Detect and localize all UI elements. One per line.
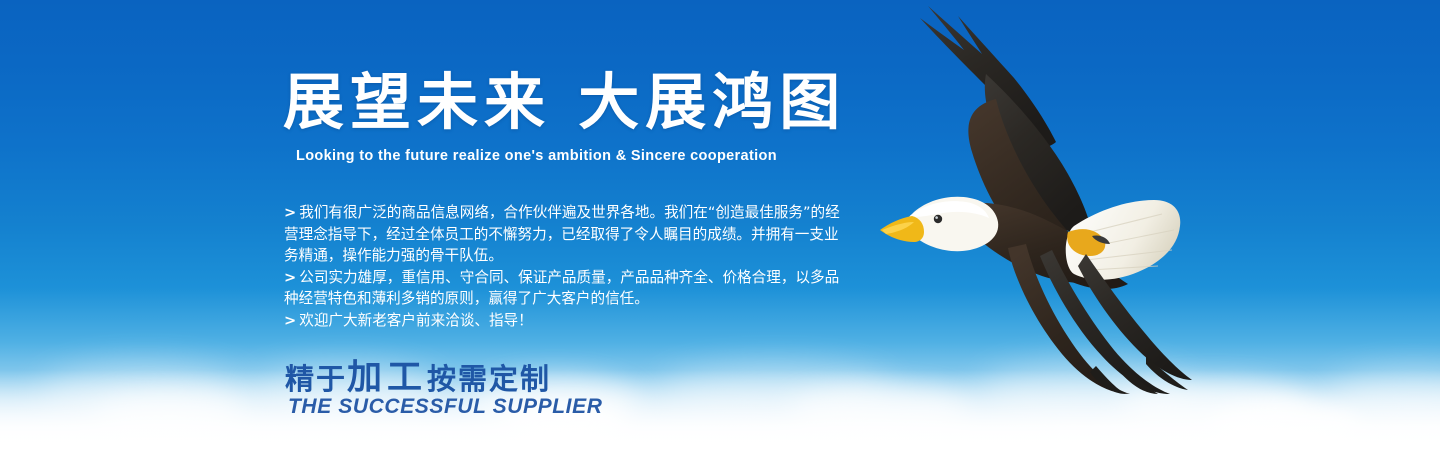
tagline-suffix: 按需定制 xyxy=(427,362,551,396)
banner-headline: 展望未来 大展鸿图 xyxy=(283,72,846,133)
banner-tagline: 精于加工按需定制 xyxy=(285,360,551,395)
promo-banner: 展望未来 大展鸿图 Looking to the future realize … xyxy=(0,0,1440,450)
copy-text-1: 我们有很广泛的商品信息网络，合作伙伴遍及世界各地。我们在“创造最佳服务”的经营理… xyxy=(284,204,840,264)
copy-paragraph-3: >欢迎广大新老客户前来洽谈、指导！ xyxy=(284,310,850,332)
bald-eagle-icon xyxy=(846,4,1246,394)
bullet-marker: > xyxy=(284,312,296,329)
banner-tagline-subtitle: THE SUCCESSFUL SUPPLIER xyxy=(288,396,602,417)
copy-paragraph-1: >我们有很广泛的商品信息网络，合作伙伴遍及世界各地。我们在“创造最佳服务”的经营… xyxy=(284,202,850,267)
banner-body-copy: >我们有很广泛的商品信息网络，合作伙伴遍及世界各地。我们在“创造最佳服务”的经营… xyxy=(284,202,850,331)
copy-text-2: 公司实力雄厚，重信用、守合同、保证产品质量，产品品种齐全、价格合理，以多品种经营… xyxy=(284,269,839,308)
copy-text-3: 欢迎广大新老客户前来洽谈、指导！ xyxy=(299,312,533,329)
bullet-marker: > xyxy=(284,269,296,286)
banner-subheadline: Looking to the future realize one's ambi… xyxy=(296,148,777,164)
copy-paragraph-2: >公司实力雄厚，重信用、守合同、保证产品质量，产品品种齐全、价格合理，以多品种经… xyxy=(284,267,850,310)
bullet-marker: > xyxy=(284,204,296,221)
tagline-prefix: 精于 xyxy=(285,362,347,396)
tagline-emphasis: 加工 xyxy=(347,357,427,398)
